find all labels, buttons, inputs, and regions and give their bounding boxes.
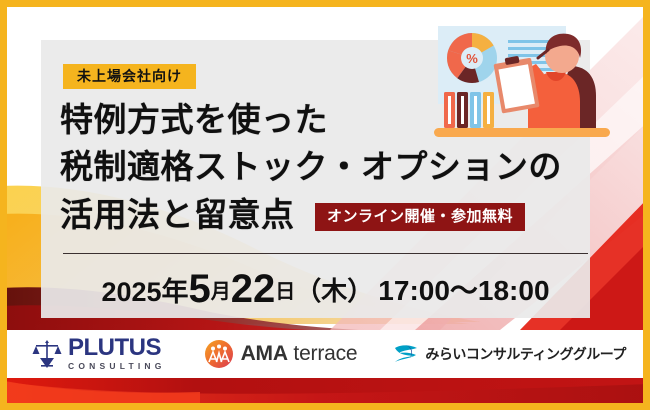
- date-weekday: （木）: [295, 271, 373, 308]
- event-datetime: 2025年 5 月 22 日 （木） 17:00〜18:00: [63, 266, 588, 312]
- date-month-kanji: 月: [211, 275, 231, 304]
- logo-mirai-consulting-group: みらいコンサルティンググループ: [393, 342, 626, 366]
- logo-plutus-consulting: PLUTUS CONSULTING: [32, 336, 166, 371]
- ama-bold: AMA: [241, 342, 288, 365]
- webinar-banner: %: [0, 0, 650, 410]
- mirai-name: みらいコンサルティンググループ: [425, 344, 626, 364]
- title-line-2: 税制適格ストック・オプションの: [60, 150, 562, 183]
- date-day-kanji: 日: [275, 275, 295, 304]
- logo-ama-terrace: AMA terrace: [204, 339, 358, 369]
- plutus-tagline: CONSULTING: [68, 362, 166, 371]
- online-free-badge: オンライン開催・参加無料: [315, 203, 525, 231]
- date-day-number: 22: [231, 267, 276, 312]
- plutus-name: PLUTUS: [68, 336, 166, 360]
- title-line-1: 特例方式を使った: [60, 103, 328, 136]
- date-year: 2025年: [101, 270, 188, 309]
- event-time: 17:00〜18:00: [378, 269, 549, 309]
- horizontal-divider: [63, 253, 588, 254]
- target-audience-badge: 未上場会社向け: [63, 64, 196, 89]
- scales-of-justice-icon: [32, 338, 62, 370]
- ama-circle-icon: [204, 339, 234, 369]
- title-line-3: 活用法と留意点: [60, 198, 295, 231]
- ama-light: terrace: [288, 342, 358, 365]
- partner-logo-strip: PLUTUS CONSULTING: [7, 330, 643, 377]
- mirai-swoosh-icon: [393, 342, 419, 366]
- date-month-number: 5: [189, 267, 211, 312]
- ama-terrace-name: AMA terrace: [241, 342, 358, 366]
